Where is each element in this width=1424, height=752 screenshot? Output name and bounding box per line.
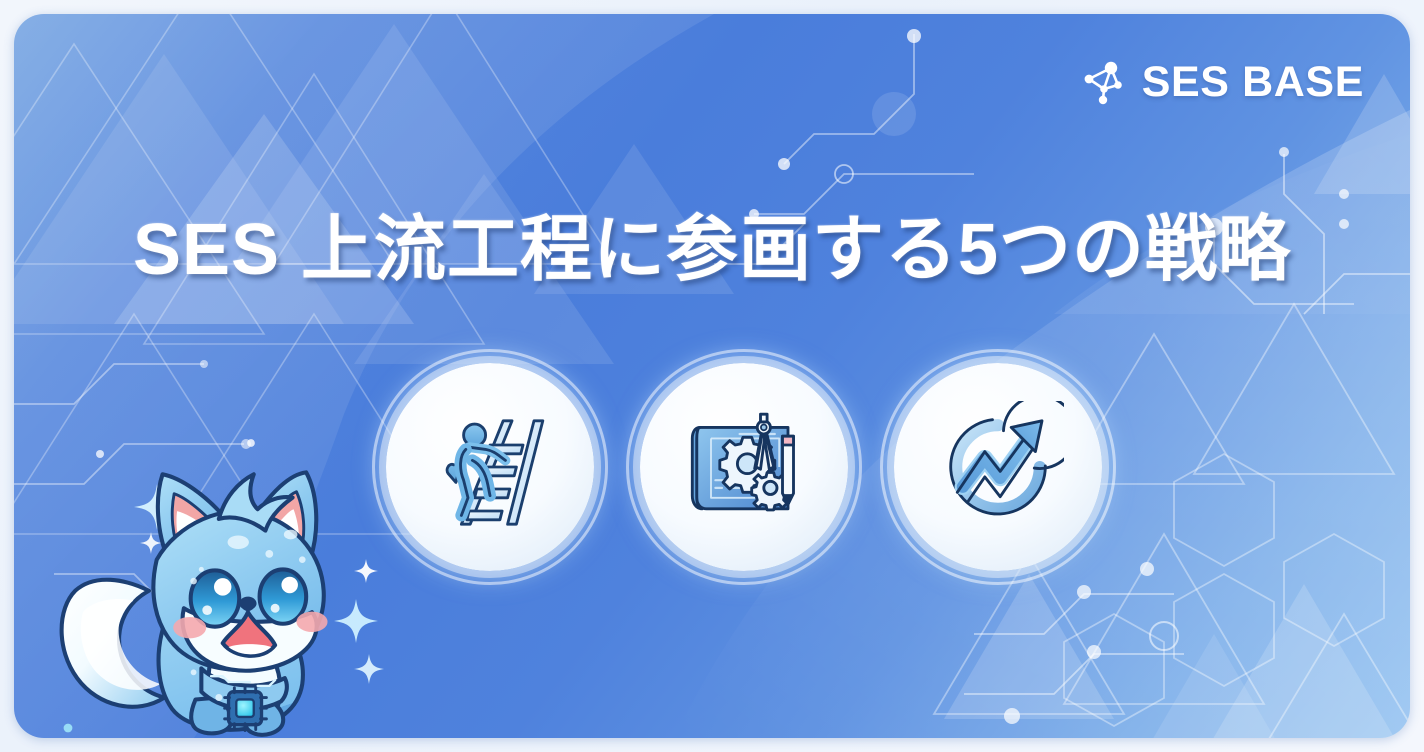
banner-root: SES BASE SES 上流工程に参画する5つの戦略 — [0, 0, 1424, 752]
blueprint-gears-icon — [678, 401, 810, 533]
icon-row — [386, 359, 1102, 575]
icon-circle-growth[interactable] — [894, 363, 1102, 571]
brand-logo[interactable]: SES BASE — [1080, 58, 1364, 106]
brand-name: SES BASE — [1142, 61, 1364, 104]
fox-illustration — [48, 418, 378, 738]
banner-card: SES BASE SES 上流工程に参画する5つの戦略 — [14, 14, 1410, 738]
growth-arrow-icon — [932, 401, 1064, 533]
icon-circle-blueprint[interactable] — [640, 363, 848, 571]
ladder-climb-icon — [424, 401, 556, 533]
network-nodes-icon — [1080, 58, 1128, 106]
icon-circle-ladder[interactable] — [386, 363, 594, 571]
page-title: SES 上流工程に参画する5つの戦略 — [14, 210, 1410, 291]
blue-fox-mascot — [48, 418, 378, 738]
